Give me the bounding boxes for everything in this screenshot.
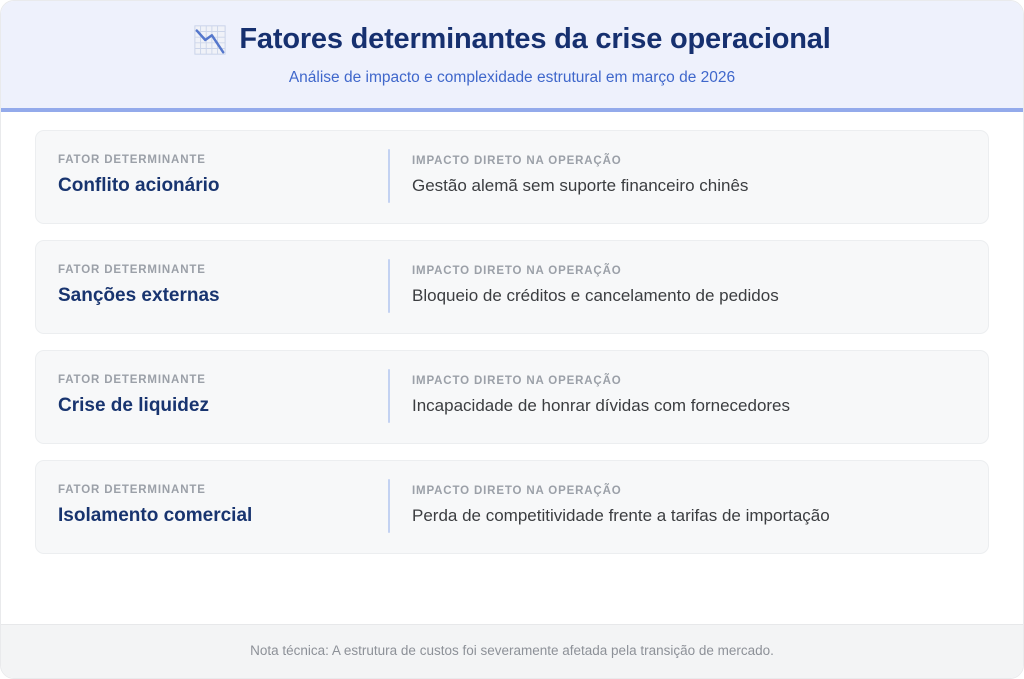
- impact-label: IMPACTO DIRETO NA OPERAÇÃO: [412, 265, 966, 279]
- factor-label: FATOR DETERMINANTE: [58, 154, 370, 168]
- impact-cell: IMPACTO DIRETO NA OPERAÇÃO Bloqueio de c…: [390, 259, 966, 313]
- impact-label: IMPACTO DIRETO NA OPERAÇÃO: [412, 485, 966, 499]
- impact-label: IMPACTO DIRETO NA OPERAÇÃO: [412, 375, 966, 389]
- impact-value: Bloqueio de créditos e cancelamento de p…: [412, 285, 966, 306]
- factor-label: FATOR DETERMINANTE: [58, 264, 370, 278]
- page-title: Fatores determinantes da crise operacion…: [239, 24, 830, 56]
- title-row: Fatores determinantes da crise operacion…: [21, 23, 1003, 57]
- impact-value: Perda de competitividade frente a tarifa…: [412, 505, 966, 526]
- impact-cell: IMPACTO DIRETO NA OPERAÇÃO Perda de comp…: [390, 479, 966, 533]
- factor-value: Conflito acionário: [58, 175, 370, 198]
- footer: Nota técnica: A estrutura de custos foi …: [1, 624, 1023, 678]
- impact-cell: IMPACTO DIRETO NA OPERAÇÃO Incapacidade …: [390, 369, 966, 423]
- impact-label: IMPACTO DIRETO NA OPERAÇÃO: [412, 155, 966, 169]
- impact-cell: IMPACTO DIRETO NA OPERAÇÃO Gestão alemã …: [390, 149, 966, 203]
- list-item: FATOR DETERMINANTE Crise de liquidez IMP…: [35, 350, 989, 444]
- factor-value: Isolamento comercial: [58, 505, 370, 528]
- factor-label: FATOR DETERMINANTE: [58, 374, 370, 388]
- page-subtitle: Análise de impacto e complexidade estrut…: [21, 69, 1003, 88]
- factor-label: FATOR DETERMINANTE: [58, 484, 370, 498]
- footer-note: Nota técnica: A estrutura de custos foi …: [21, 642, 1003, 660]
- factor-value: Sanções externas: [58, 285, 370, 308]
- impact-value: Gestão alemã sem suporte financeiro chin…: [412, 175, 966, 196]
- factors-list: FATOR DETERMINANTE Conflito acionário IM…: [1, 112, 1023, 625]
- factor-cell: FATOR DETERMINANTE Isolamento comercial: [58, 479, 388, 533]
- chart-decreasing-icon: [193, 23, 227, 57]
- list-item: FATOR DETERMINANTE Conflito acionário IM…: [35, 130, 989, 224]
- factor-value: Crise de liquidez: [58, 395, 370, 418]
- header: Fatores determinantes da crise operacion…: [1, 1, 1023, 112]
- document-card: Fatores determinantes da crise operacion…: [0, 0, 1024, 679]
- factor-cell: FATOR DETERMINANTE Conflito acionário: [58, 149, 388, 203]
- list-item: FATOR DETERMINANTE Isolamento comercial …: [35, 460, 989, 554]
- list-item: FATOR DETERMINANTE Sanções externas IMPA…: [35, 240, 989, 334]
- factor-cell: FATOR DETERMINANTE Sanções externas: [58, 259, 388, 313]
- factor-cell: FATOR DETERMINANTE Crise de liquidez: [58, 369, 388, 423]
- impact-value: Incapacidade de honrar dívidas com forne…: [412, 395, 966, 416]
